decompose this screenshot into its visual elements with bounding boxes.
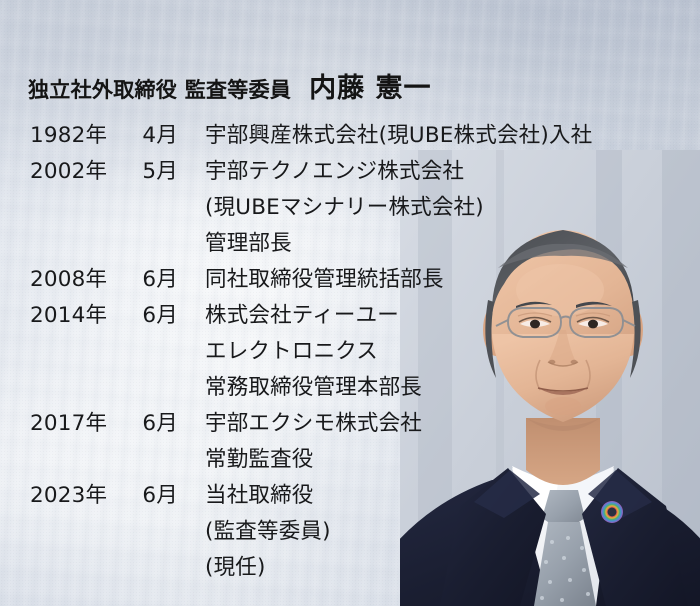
career-year: 1982年: [30, 118, 130, 149]
career-description: 管理部長: [178, 226, 292, 257]
career-month: 6月: [130, 406, 178, 437]
career-history-row: 常務取締役管理本部長: [30, 370, 670, 406]
page-title: 独立社外取締役 監査等委員 内藤 憲一: [28, 66, 432, 105]
career-year: 2002年: [30, 154, 130, 185]
career-history-row: 2014年6月株式会社ティーユー: [30, 298, 670, 334]
career-month: 4月: [130, 118, 178, 149]
profile-card: 独立社外取締役 監査等委員 内藤 憲一 1982年4月宇部興産株式会社(現UBE…: [0, 0, 700, 606]
career-year: 2008年: [30, 262, 130, 293]
career-history-list: 1982年4月宇部興産株式会社(現UBE株式会社)入社2002年5月宇部テクノエ…: [30, 118, 670, 586]
career-description: 宇部エクシモ株式会社: [178, 406, 422, 437]
title-role: 独立社外取締役 監査等委員: [28, 78, 291, 102]
career-history-row: 管理部長: [30, 226, 670, 262]
person-name: 内藤 憲一: [309, 73, 431, 104]
career-history-row: エレクトロニクス: [30, 334, 670, 370]
career-description: エレクトロニクス: [178, 334, 378, 365]
career-description: 常勤監査役: [178, 442, 314, 473]
career-year: 2014年: [30, 298, 130, 329]
career-description: (現任): [178, 550, 266, 581]
career-description: (監査等委員): [178, 514, 331, 545]
career-description: 同社取締役管理統括部長: [178, 262, 444, 293]
career-history-row: 2017年6月宇部エクシモ株式会社: [30, 406, 670, 442]
career-history-row: (現UBEマシナリー株式会社): [30, 190, 670, 226]
career-history-row: 2008年6月同社取締役管理統括部長: [30, 262, 670, 298]
career-description: 宇部テクノエンジ株式会社: [178, 154, 464, 185]
career-year: 2023年: [30, 478, 130, 509]
career-description: 常務取締役管理本部長: [178, 370, 422, 401]
career-history-row: 2023年6月当社取締役: [30, 478, 670, 514]
career-month: 6月: [130, 298, 178, 329]
career-history-row: 常勤監査役: [30, 442, 670, 478]
career-month: 6月: [130, 478, 178, 509]
career-description: 当社取締役: [178, 478, 314, 509]
career-month: 5月: [130, 154, 178, 185]
career-description: (現UBEマシナリー株式会社): [178, 190, 484, 221]
career-history-row: 1982年4月宇部興産株式会社(現UBE株式会社)入社: [30, 118, 670, 154]
career-history-row: (監査等委員): [30, 514, 670, 550]
career-history-row: (現任): [30, 550, 670, 586]
career-description: 宇部興産株式会社(現UBE株式会社)入社: [178, 118, 592, 149]
career-description: 株式会社ティーユー: [178, 298, 399, 329]
career-year: 2017年: [30, 406, 130, 437]
career-month: 6月: [130, 262, 178, 293]
career-history-row: 2002年5月宇部テクノエンジ株式会社: [30, 154, 670, 190]
